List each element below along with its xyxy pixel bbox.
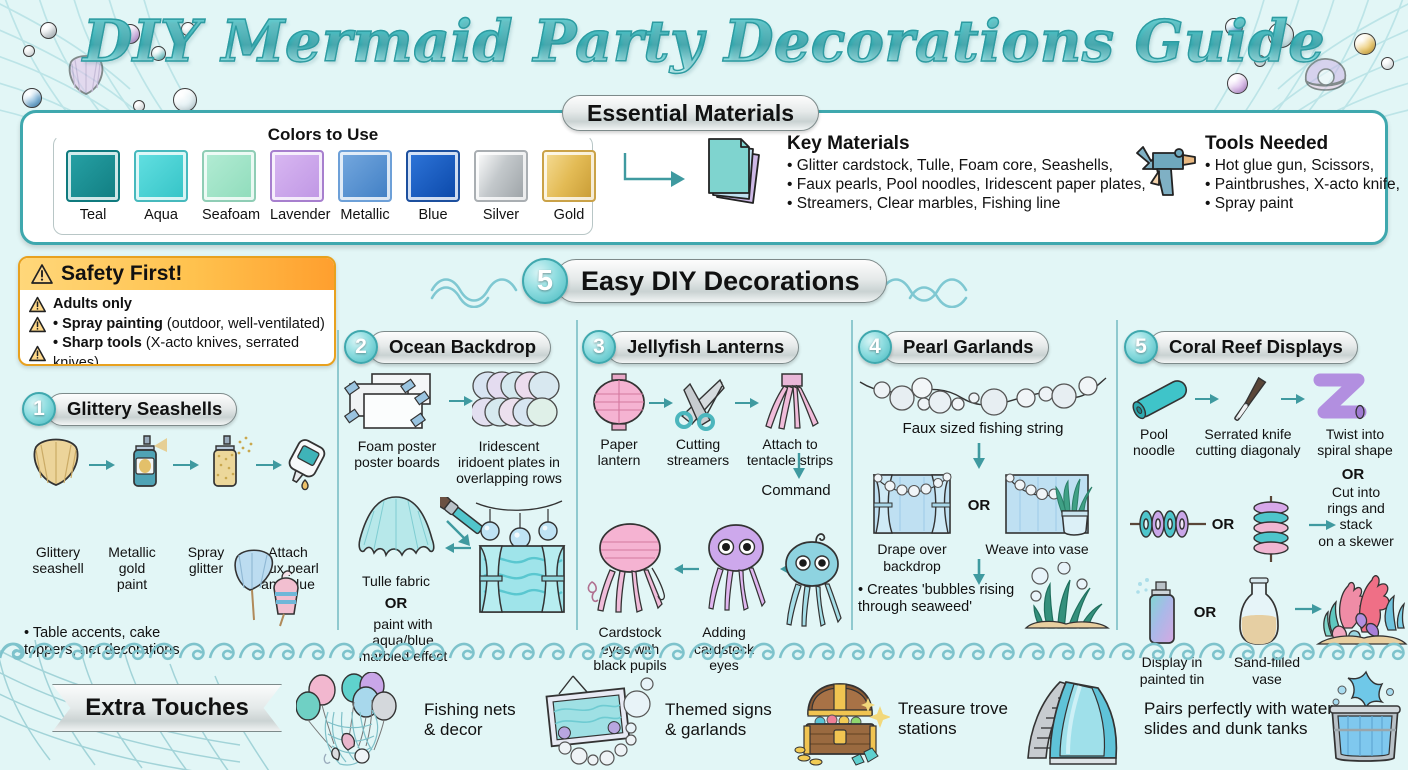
color-swatch-icon [406, 150, 460, 202]
safety-item: • Spray painting (outdoor, well-ventilat… [28, 315, 326, 335]
swatch-label: Seafoam [202, 207, 256, 223]
arrow-left-icon [672, 562, 700, 576]
color-swatch-icon [338, 150, 392, 202]
step-2-caption: Iridescent iridoent plates in overlappin… [450, 438, 568, 487]
swatch-teal[interactable]: Teal [66, 150, 120, 223]
stacked-rings-skewer-icon [1242, 494, 1300, 564]
swatch-metallic[interactable]: Metallic [338, 150, 392, 223]
safety-item-bold: • Spray painting [53, 316, 163, 332]
seaweed-bubbles-icon [1018, 562, 1114, 638]
glue-bottle-icon [280, 434, 332, 494]
tulle-fabric-icon [350, 495, 442, 561]
swatch-lavender[interactable]: Lavender [270, 150, 324, 223]
tools-needed-line: • Spray paint [1205, 194, 1400, 213]
step-number-badge: 2 [344, 330, 378, 364]
step-5-or-label: OR [1208, 516, 1238, 533]
arrow-down-icon [790, 452, 808, 480]
metallic-gold-spray-can-icon [120, 434, 168, 490]
step-number-badge: 5 [1124, 330, 1158, 364]
extra-item-water-slides: Pairs perfectly with water slides and du… [1020, 672, 1333, 766]
arrow-right-icon [1194, 392, 1220, 406]
step-3-caption: Paper lantern [582, 436, 656, 468]
step-5-or-label: OR [1320, 466, 1386, 483]
jellyfish-blue-icon [778, 526, 854, 632]
step-5-header[interactable]: 5 Coral Reef Displays [1124, 330, 1400, 364]
extra-item-themed-signs: Themed signs & garlands [535, 672, 772, 768]
step-column-2: 2 Ocean Backdrop [344, 330, 572, 665]
safety-item-bold: Adults only [53, 296, 132, 312]
column-divider [337, 330, 339, 630]
twisted-spiral-noodle-icon [1310, 372, 1372, 424]
step-2-or-label: OR [344, 595, 448, 612]
swatch-label: Silver [474, 207, 528, 223]
bubble-icon [173, 88, 197, 112]
step-3-title: Jellyfish Lanterns [627, 336, 784, 358]
key-materials-line: • Glitter cardstock, Tulle, Foam core, S… [787, 156, 1146, 175]
color-swatch-icon [134, 150, 188, 202]
glue-gun-icon [1123, 133, 1197, 203]
extra-item-text: Treasure trove stations [898, 699, 1008, 740]
step-1-title: Glittery Seashells [67, 398, 222, 420]
step-2-title: Ocean Backdrop [389, 336, 536, 358]
extra-item-treasure-trove: Treasure trove stations [790, 672, 1008, 766]
tools-needed-line: • Paintbrushes, X-acto knife, [1205, 175, 1400, 194]
swatch-gold[interactable]: Gold [542, 150, 596, 223]
step-4-bullet: • Creates 'bubbles rising through seawee… [858, 582, 1018, 617]
swatch-blue[interactable]: Blue [406, 150, 460, 223]
color-swatch-list: Teal Aqua Seafoam Lavender Metallic [54, 136, 592, 223]
arrow-down-right-icon [444, 518, 478, 550]
safety-first-panel: Safety First! Adults only • Spray painti… [18, 256, 336, 366]
step-number-badge: 3 [582, 330, 616, 364]
squiggle-left-icon [430, 272, 520, 308]
flow-arrow-icon [619, 151, 697, 201]
step-column-5: 5 Coral Reef Displays [1124, 330, 1400, 687]
step-4-title: Pearl Garlands [903, 336, 1034, 358]
key-materials-line: • Streamers, Clear marbles, Fishing line [787, 194, 1146, 213]
step-number-badge: 1 [22, 392, 56, 426]
easy-diy-decorations-title: Easy DIY Decorations [581, 266, 860, 297]
step-3-caption: Command [740, 482, 852, 499]
jellyfish-pink-icon [586, 520, 672, 616]
warning-triangle-icon [28, 345, 47, 362]
step-5-or-label: OR [1190, 604, 1220, 621]
column-divider [576, 320, 578, 630]
essential-materials-header: Essential Materials [562, 95, 819, 131]
step-4-caption: Weave into vase [966, 541, 1108, 557]
color-swatch-icon [474, 150, 528, 202]
safety-item-bold: • Sharp tools [53, 335, 142, 351]
shell-and-cupcake-topper-icon [222, 544, 318, 628]
step-5-caption: Pool noodle [1124, 426, 1184, 458]
drape-over-backdrop-icon [866, 469, 958, 539]
tentacle-strips-icon [762, 372, 822, 434]
weave-into-vase-icon [1000, 469, 1098, 539]
extra-touches-title: Extra Touches [85, 694, 249, 722]
tools-needed-block: Tools Needed • Hot glue gun, Scissors, •… [1123, 133, 1400, 214]
step-column-3: 3 Jellyfish Lanterns [582, 330, 846, 673]
paper-lantern-icon [590, 372, 650, 434]
step-column-1: 1 Glittery Seashells [22, 392, 334, 659]
swatch-aqua[interactable]: Aqua [134, 150, 188, 223]
tools-needed-line: • Hot glue gun, Scissors, [1205, 156, 1400, 175]
extra-touches-ribbon: Extra Touches [52, 684, 282, 732]
safety-first-title: Safety First! [61, 262, 182, 286]
bubble-icon [1227, 73, 1248, 94]
colors-to-use-label: Colors to Use [258, 125, 389, 145]
arrow-down-icon [970, 442, 988, 470]
glittery-seashell-icon [28, 436, 84, 488]
key-materials-line: • Faux pearls, Pool noodles, Iridescent … [787, 175, 1146, 194]
swatch-label: Aqua [134, 207, 188, 223]
treasure-chest-icon [790, 672, 890, 766]
color-swatch-icon [542, 150, 596, 202]
key-materials-heading: Key Materials [787, 133, 1146, 155]
arrow-right-icon [734, 396, 760, 410]
water-slide-icon [1020, 672, 1132, 766]
step-4-caption: Faux sized fishing string [858, 420, 1108, 437]
noodle-rings-on-skewer-icon [1128, 502, 1208, 546]
warning-triangle-icon [30, 263, 54, 285]
iridescent-plates-icon [472, 370, 568, 432]
color-swatch-icon [66, 150, 120, 202]
swatch-label: Teal [66, 207, 120, 223]
arrow-right-icon [1308, 518, 1338, 532]
marbled-backdrop-curtain-icon [474, 542, 570, 616]
swatch-silver[interactable]: Silver [474, 150, 528, 223]
step-4-or-label: OR [964, 497, 994, 514]
safety-first-header: Safety First! [20, 258, 334, 290]
step-2-caption: Foam poster poster boards [344, 438, 450, 470]
step-column-4: 4 Pearl Garlands Faux sized fishing stri… [858, 330, 1112, 574]
arrow-right-icon [448, 394, 474, 408]
step-3-caption: Cutting streamers [656, 436, 740, 468]
step-5-caption: Twist into spiral shape [1312, 426, 1398, 458]
safety-items-list: Adults only • Spray painting (outdoor, w… [20, 290, 334, 366]
key-materials-block: Key Materials • Glitter cardstock, Tulle… [703, 133, 1146, 214]
arrow-right-icon [172, 458, 200, 472]
swatch-label: Gold [542, 207, 596, 223]
spray-glitter-can-icon [202, 434, 254, 490]
serrated-knife-icon [1222, 372, 1276, 426]
step-5-caption: Serrated knife cutting diagonaly [1184, 426, 1312, 458]
themed-sign-icon [535, 672, 657, 768]
color-swatch-icon [202, 150, 256, 202]
step-4-caption: Drape over backdrop [858, 541, 966, 573]
arrow-right-icon [88, 458, 116, 472]
pearl-garland-string-icon [858, 372, 1108, 418]
safety-item: Adults only [28, 295, 326, 315]
scissors-icon [672, 372, 732, 432]
swatch-label: Blue [406, 207, 460, 223]
step-1-header[interactable]: 1 Glittery Seashells [22, 392, 334, 426]
step-3-header[interactable]: 3 Jellyfish Lanterns [582, 330, 846, 364]
dunk-tank-icon [1320, 668, 1408, 764]
step-2-header[interactable]: 2 Ocean Backdrop [344, 330, 572, 364]
extra-item-text: Pairs perfectly with water slides and du… [1144, 699, 1333, 740]
safety-item: • Sharp tools (X-acto knives, serrated k… [28, 334, 326, 366]
swatch-label: Lavender [270, 207, 324, 223]
warning-triangle-icon [28, 316, 47, 333]
swatch-label: Metallic [338, 207, 392, 223]
column-divider [1116, 320, 1118, 630]
tools-needed-heading: Tools Needed [1205, 133, 1400, 155]
foam-poster-boards-icon [344, 372, 448, 434]
jellyfish-purple-eyes-icon [698, 520, 774, 616]
step-number-badge: 4 [858, 330, 892, 364]
step-4-header[interactable]: 4 Pearl Garlands [858, 330, 1112, 364]
squiggle-right-icon [880, 272, 970, 308]
bubble-icon [22, 88, 42, 108]
essential-materials-title: Essential Materials [587, 100, 794, 127]
step-5-title: Coral Reef Displays [1169, 336, 1343, 358]
color-swatch-icon [270, 150, 324, 202]
fishing-net-balloons-icon [296, 672, 416, 768]
warning-triangle-icon [28, 296, 47, 313]
arrow-right-icon [1280, 392, 1306, 406]
cardstock-sheets-icon [703, 133, 775, 209]
easy-diy-decorations-banner: 5 Easy DIY Decorations [522, 258, 887, 304]
arrow-right-icon [255, 458, 283, 472]
extra-item-text: Themed signs & garlands [665, 700, 772, 741]
extra-item-text: Fishing nets & decor [424, 700, 516, 741]
swatch-seafoam[interactable]: Seafoam [202, 150, 256, 223]
safety-item-rest: (outdoor, well-ventilated) [163, 316, 325, 332]
arrow-right-icon [648, 396, 674, 410]
page-title: DIY Mermaid Party Decorations Guide [83, 8, 1325, 75]
pool-noodle-icon [1128, 374, 1192, 422]
diy-step-count-badge: 5 [522, 258, 568, 304]
colors-to-use-group: Colors to Use Teal Aqua Seafoam Lavender [53, 135, 593, 235]
extra-item-fishing-nets: Fishing nets & decor [296, 672, 516, 768]
